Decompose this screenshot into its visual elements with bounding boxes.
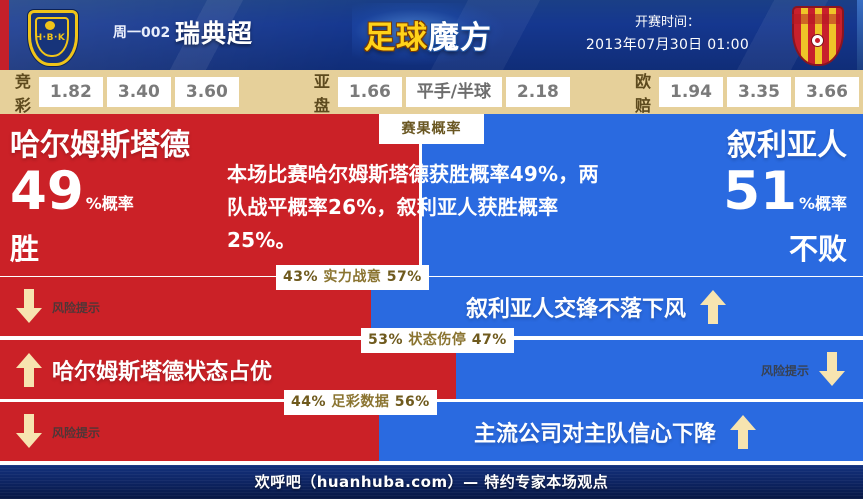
- home-team-name: 哈尔姆斯塔德: [10, 128, 240, 164]
- comparison-bar-betting-data: 44% 足彩数据 56% 风险提示 主流公司对主队信心下降: [0, 402, 863, 461]
- footer-bar: 欢呼吧（huanhuba.com）— 特约专家本场观点: [0, 465, 863, 499]
- odds-value-jingcai-3[interactable]: 3.60: [175, 77, 239, 107]
- away-result-label: 不败: [617, 232, 847, 266]
- crest-letters: H·B·K: [22, 33, 78, 43]
- header-right-accent-stripe: [857, 0, 863, 70]
- odds-value-oupei-2[interactable]: 3.35: [727, 77, 791, 107]
- risk-arrow-down-icon: [16, 289, 42, 323]
- bar-metric-name: 实力战意: [323, 269, 381, 285]
- odds-value-oupei-1[interactable]: 1.94: [659, 77, 723, 107]
- home-team-crest-icon: H·B·K: [22, 7, 78, 63]
- match-preview-graphic: H·B·K 周一002 瑞典超 足球魔方 开赛时间： 2013年07月30日 0…: [0, 0, 863, 499]
- odds-value-yapan-handicap[interactable]: 平手/半球: [406, 77, 502, 107]
- risk-label: 风险提示: [52, 424, 100, 441]
- bar-metric-label: 53% 状态伤停 47%: [361, 328, 514, 353]
- bar-right-percent: 47%: [472, 332, 507, 348]
- crest-ball-icon: [45, 21, 55, 30]
- home-probability-number: 49: [10, 161, 84, 222]
- odds-group-label-jingcai: 竞彩: [15, 68, 31, 116]
- risk-label: 风险提示: [761, 362, 809, 379]
- bar-metric-label: 43% 实力战意 57%: [276, 265, 429, 290]
- odds-value-yapan-1[interactable]: 1.66: [338, 77, 402, 107]
- bar-left-percent: 53%: [368, 332, 403, 348]
- bar-left-percent: 43%: [283, 269, 318, 285]
- match-number: 周一002: [113, 22, 170, 42]
- bar-metric-name: 状态伤停: [408, 332, 466, 348]
- bar-metric-name: 足彩数据: [331, 394, 389, 410]
- away-probability-number: 51: [723, 161, 797, 222]
- risk-arrow-down-icon: [16, 414, 42, 448]
- bar-metric-label: 44% 足彩数据 56%: [284, 390, 437, 415]
- away-team-name: 叙利亚人: [617, 128, 847, 164]
- home-probability-suffix: %概率: [86, 194, 134, 213]
- home-probability-value: 49%概率: [10, 166, 240, 230]
- odds-group-label-yapan: 亚盘: [314, 68, 330, 116]
- bar-headline: 哈尔姆斯塔德状态占优: [52, 354, 272, 386]
- odds-value-jingcai-1[interactable]: 1.82: [39, 77, 103, 107]
- footer-text: 欢呼吧（huanhuba.com）— 特约专家本场观点: [0, 465, 863, 499]
- hero-tab-label: 赛果概率: [379, 114, 484, 144]
- kickoff-time-block: 开赛时间： 2013年07月30日 01:00: [560, 12, 775, 56]
- odds-value-yapan-2[interactable]: 2.18: [506, 77, 570, 107]
- bar-right-percent: 56%: [395, 394, 430, 410]
- risk-arrow-down-icon: [819, 352, 845, 386]
- bar-left-percent: 44%: [291, 394, 326, 410]
- away-probability-suffix: %概率: [799, 194, 847, 213]
- brand-text-part2: 魔方: [428, 20, 492, 56]
- bar-headline: 叙利亚人交锋不落下风: [466, 291, 686, 323]
- away-probability-value: 51%概率: [617, 166, 847, 230]
- brand-text-part1: 足球: [364, 20, 428, 56]
- risk-label: 风险提示: [52, 299, 100, 316]
- headline-arrow-up-icon: [730, 415, 756, 449]
- odds-group-label-oupei: 欧赔: [635, 68, 651, 116]
- bar-right-percent: 57%: [387, 269, 422, 285]
- odds-value-jingcai-2[interactable]: 3.40: [107, 77, 171, 107]
- kickoff-value: 2013年07月30日 01:00: [560, 34, 775, 56]
- hero-summary-text: 本场比赛哈尔姆斯塔德获胜概率49%，两队战平概率26%，叙利亚人获胜概率25%。: [227, 158, 617, 257]
- away-probability-block: 叙利亚人 51%概率 不败: [617, 128, 847, 266]
- league-name: 瑞典超: [175, 14, 253, 50]
- home-result-label: 胜: [10, 232, 240, 266]
- home-probability-block: 哈尔姆斯塔德 49%概率 胜: [10, 128, 240, 266]
- odds-group-jingcai: 竞彩 1.82 3.40 3.60: [15, 68, 243, 116]
- odds-group-yapan: 亚盘 1.66 平手/半球 2.18: [314, 68, 574, 116]
- away-crest-ball-icon: [811, 34, 824, 47]
- brand-logo: 足球魔方: [352, 3, 504, 65]
- kickoff-label: 开赛时间：: [560, 12, 775, 34]
- away-crest-band: [792, 14, 840, 24]
- header-bar: H·B·K 周一002 瑞典超 足球魔方 开赛时间： 2013年07月30日 0…: [0, 0, 863, 70]
- brand-text: 足球魔方: [352, 12, 504, 57]
- odds-value-oupei-3[interactable]: 3.66: [795, 77, 859, 107]
- odds-bar: 竞彩 1.82 3.40 3.60 亚盘 1.66 平手/半球 2.18 欧赔 …: [0, 70, 863, 114]
- header-left-accent-stripe: [0, 0, 9, 70]
- away-team-crest-icon: [787, 4, 845, 66]
- headline-arrow-up-icon: [700, 290, 726, 324]
- probability-hero-panel: 赛果概率 哈尔姆斯塔德 49%概率 胜 本场比赛哈尔姆斯塔德获胜概率49%，两队…: [0, 114, 863, 276]
- odds-group-oupei: 欧赔 1.94 3.35 3.66: [635, 68, 863, 116]
- bar-headline: 主流公司对主队信心下降: [474, 416, 716, 448]
- headline-arrow-up-icon: [16, 353, 42, 387]
